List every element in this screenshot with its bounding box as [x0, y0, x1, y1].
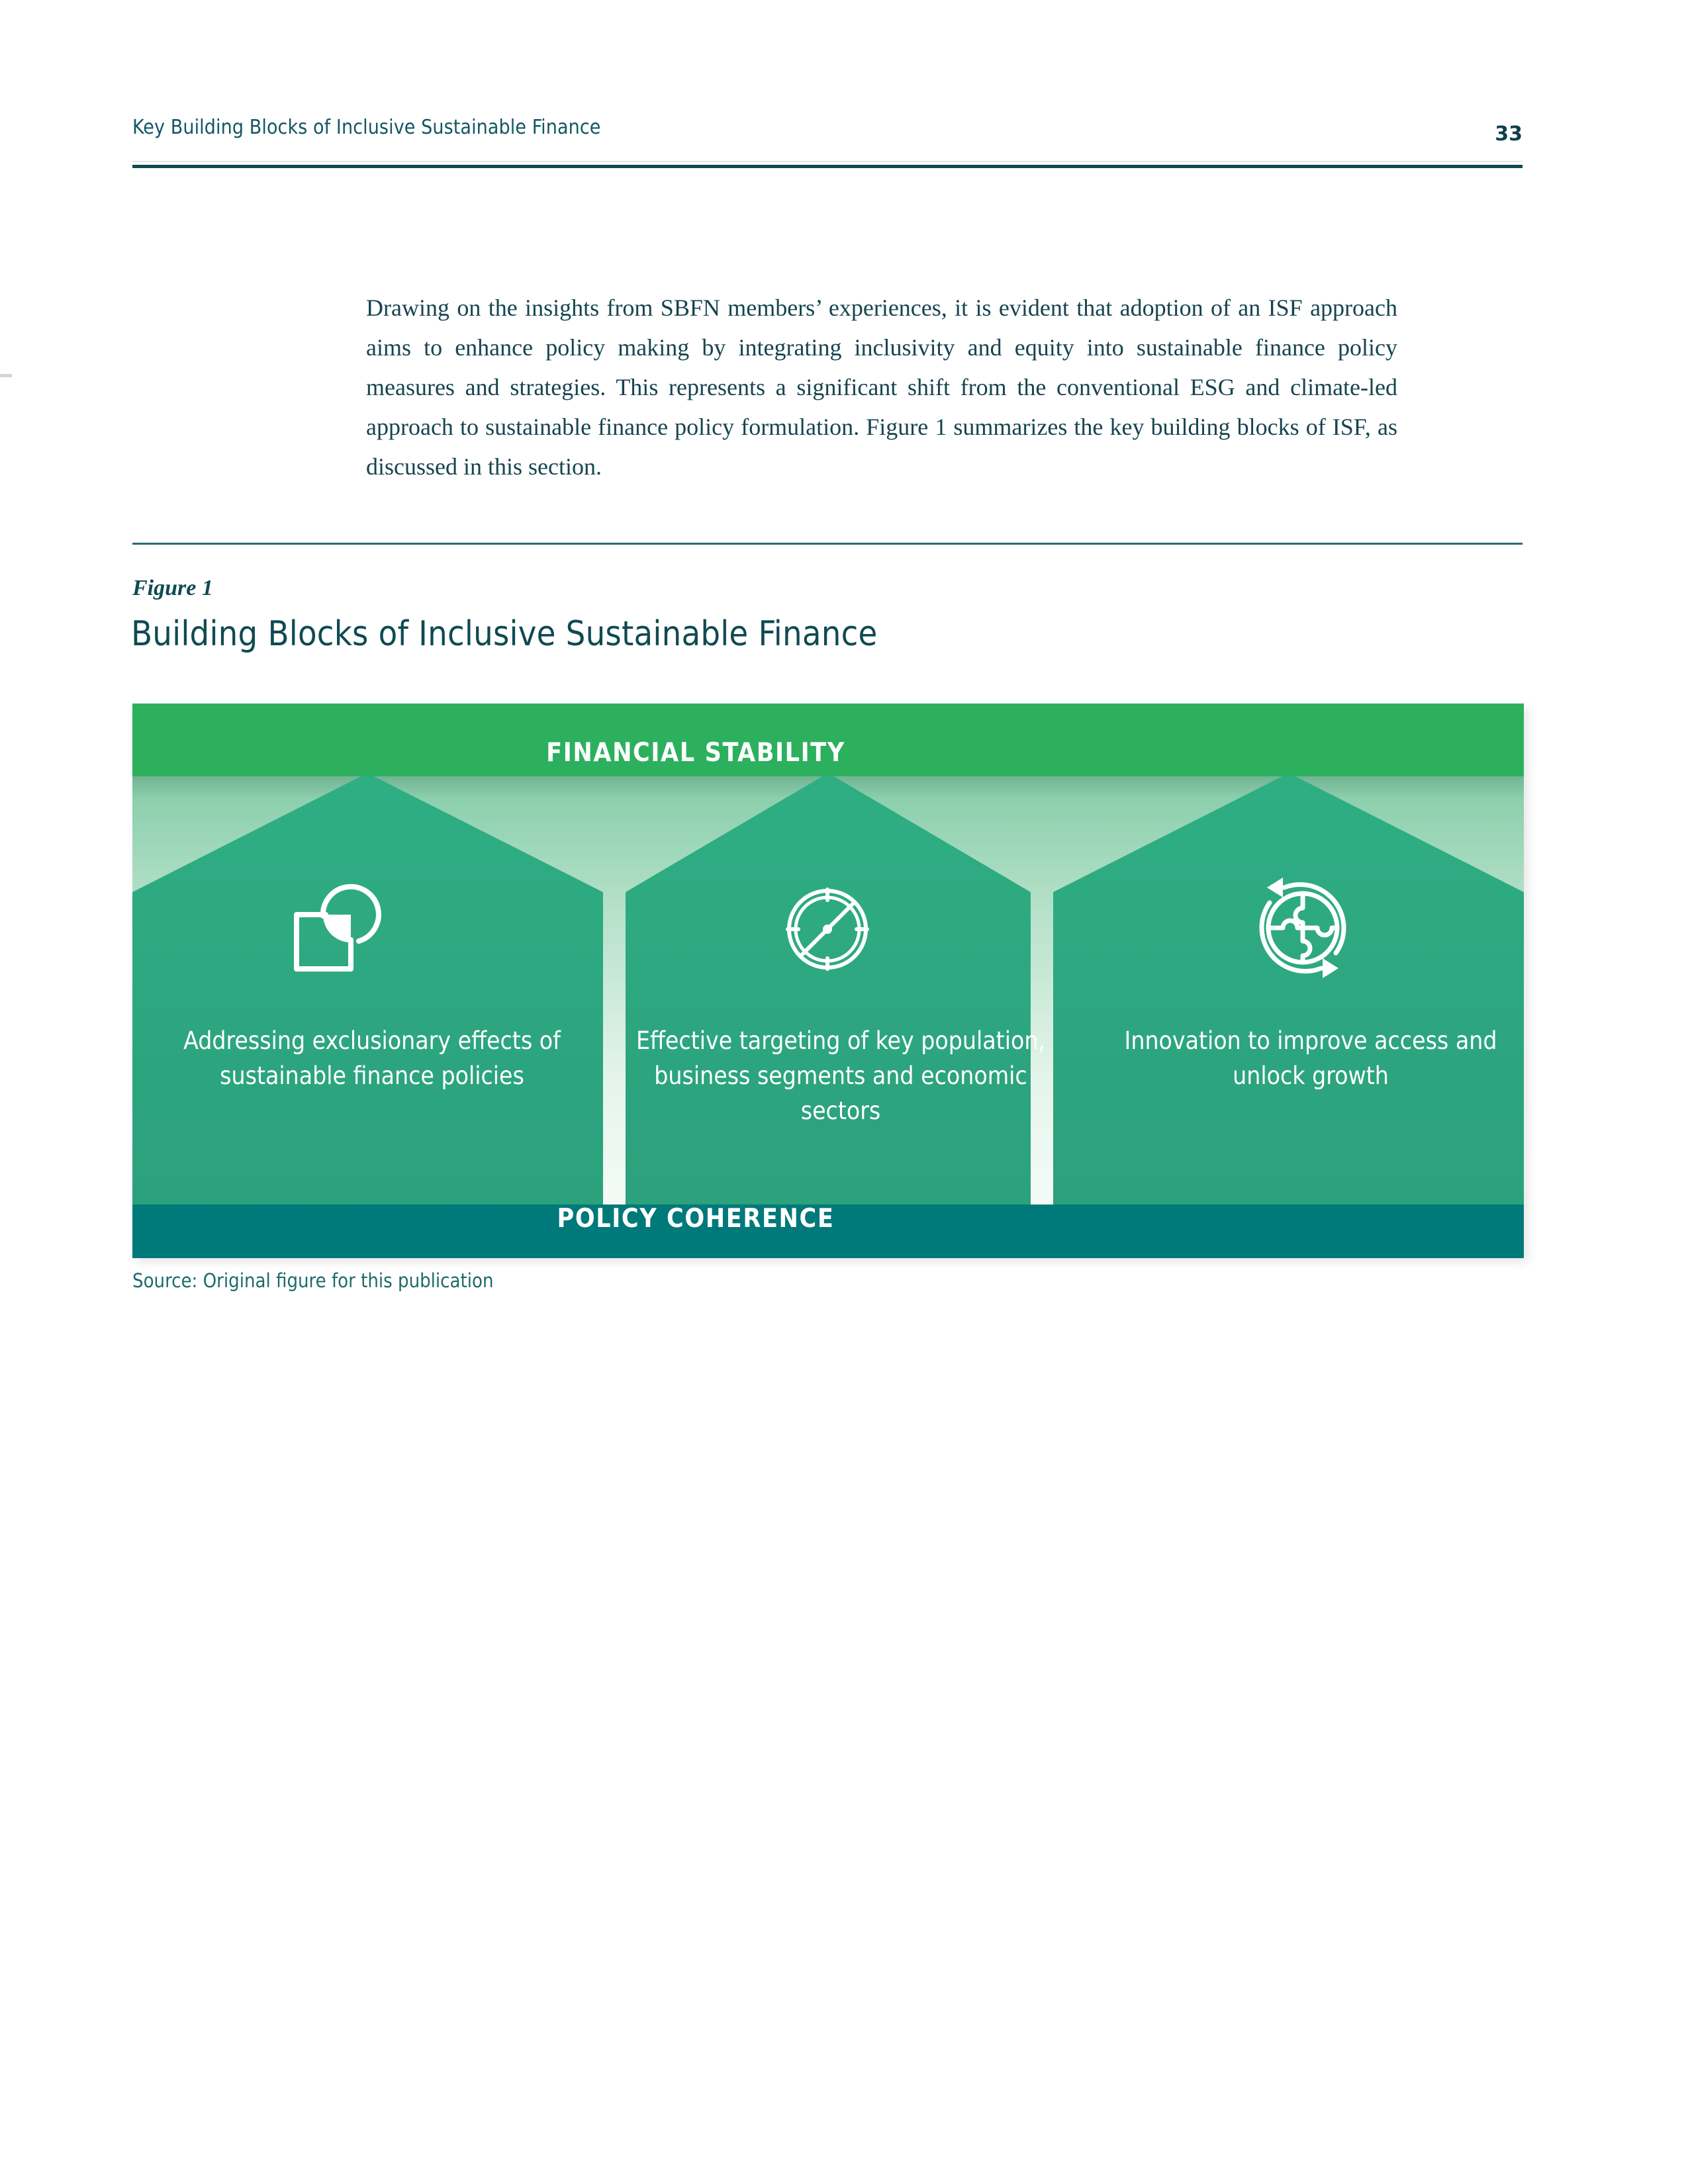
running-header-title: Key Building Blocks of Inclusive Sustain…: [132, 116, 601, 139]
running-header: Key Building Blocks of Inclusive Sustain…: [132, 116, 1523, 162]
policy-coherence-label: POLICY COHERENCE: [0, 1204, 1391, 1234]
financial-stability-label: FINANCIAL STABILITY: [0, 738, 1391, 768]
figure-source-note: Source: Original figure for this publica…: [132, 1269, 493, 1292]
header-rule-thin: [132, 161, 1523, 162]
figure-divider-rule: [132, 543, 1523, 545]
figure-title: Building Blocks of Inclusive Sustainable…: [131, 614, 878, 654]
header-rule-thick: [132, 165, 1523, 168]
block-caption-1: Addressing exclusionary effects of susta…: [147, 1023, 597, 1093]
document-page: Key Building Blocks of Inclusive Sustain…: [0, 0, 1688, 2184]
body-paragraph: Drawing on the insights from SBFN member…: [366, 288, 1397, 486]
puzzle-circle-refresh-icon: [1244, 867, 1350, 973]
page-number: 33: [1495, 122, 1523, 146]
page-bleed-mark: [0, 374, 12, 377]
block-caption-2: Effective targeting of key population, b…: [616, 1023, 1066, 1128]
square-circle-overlap-icon: [285, 875, 391, 981]
figure-number: Figure 1: [132, 576, 213, 601]
compass-icon: [774, 875, 880, 981]
block-caption-3: Innovation to improve access and unlock …: [1086, 1023, 1536, 1093]
